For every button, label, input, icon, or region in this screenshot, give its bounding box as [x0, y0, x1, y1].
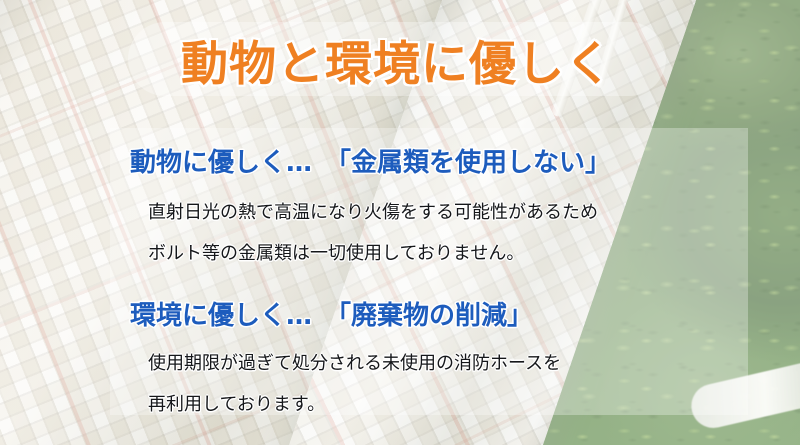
section-heading-animal-friendly: 動物に優しく… 「金属類を使用しない」 — [130, 142, 611, 179]
body-line: ボルト等の金属類は一切使用しておりません。 — [148, 233, 598, 274]
body-line: 直射日光の熱で高温になり火傷をする可能性があるため — [148, 192, 598, 233]
section-body-eco-friendly: 使用期限が過ぎて処分される未使用の消防ホースを 再利用しております。 — [148, 343, 561, 425]
page-title: 動物と環境に優しく — [128, 22, 666, 96]
banner-stage: 動物と環境に優しく 動物に優しく… 「金属類を使用しない」 直射日光の熱で高温に… — [0, 0, 800, 445]
body-line: 再利用しております。 — [148, 384, 561, 425]
body-line: 使用期限が過ぎて処分される未使用の消防ホースを — [148, 343, 561, 384]
section-heading-eco-friendly: 環境に優しく… 「廃棄物の削減」 — [130, 295, 533, 332]
section-body-animal-friendly: 直射日光の熱で高温になり火傷をする可能性があるため ボルト等の金属類は一切使用し… — [148, 192, 598, 274]
